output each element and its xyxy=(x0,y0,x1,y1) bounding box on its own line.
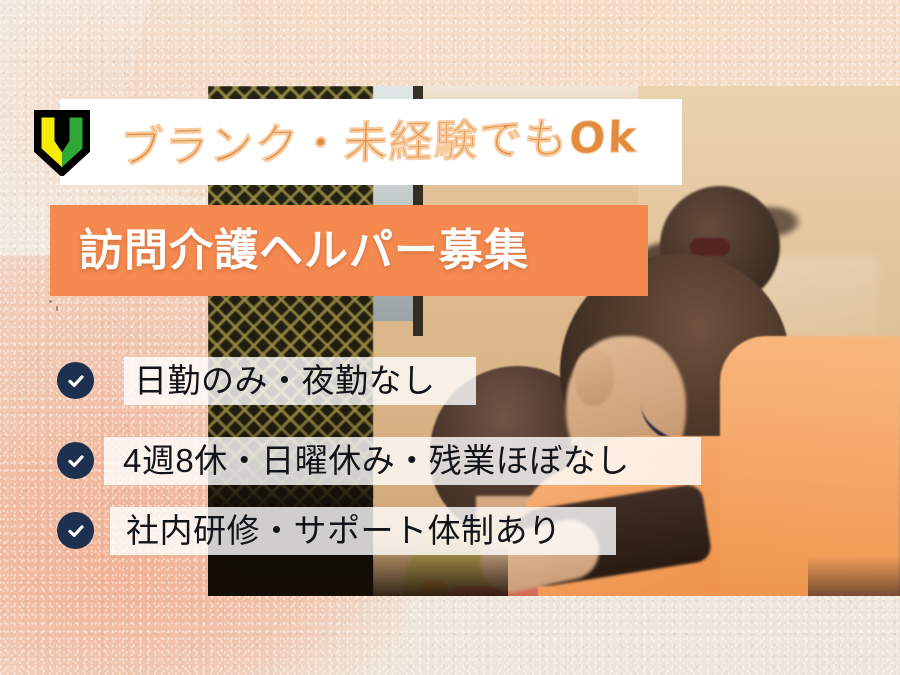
check-circle-icon xyxy=(57,362,94,399)
recruitment-poster: ブランク・未経験でもOk 訪問介護ヘルパー募集 日勤のみ・夜勤なし 4週8休・日… xyxy=(0,0,900,675)
paper-speck xyxy=(49,300,52,303)
photo-caregiver-hair-tie xyxy=(690,238,730,256)
photo-caregiver-ear xyxy=(574,348,614,406)
paper-speck xyxy=(56,306,58,311)
check-circle-icon xyxy=(57,442,94,479)
beginner-mark-icon xyxy=(34,110,90,176)
bullet-item-2 xyxy=(57,442,94,479)
page-title: 訪問介護ヘルパー募集 xyxy=(79,216,529,286)
bullet-label-2: 4週8休・日曜休み・残業ほぼなし xyxy=(123,437,630,485)
bullet-item-3 xyxy=(57,512,94,549)
check-circle-icon xyxy=(57,512,94,549)
bullet-item-1 xyxy=(57,362,94,399)
bullet-label-3: 社内研修・サポート体制あり xyxy=(126,507,562,555)
photo-dark-foreground-right xyxy=(808,556,900,596)
bullet-label-1: 日勤のみ・夜勤なし xyxy=(134,357,436,405)
catchcopy-text: ブランク・未経験でもOk xyxy=(119,100,640,187)
